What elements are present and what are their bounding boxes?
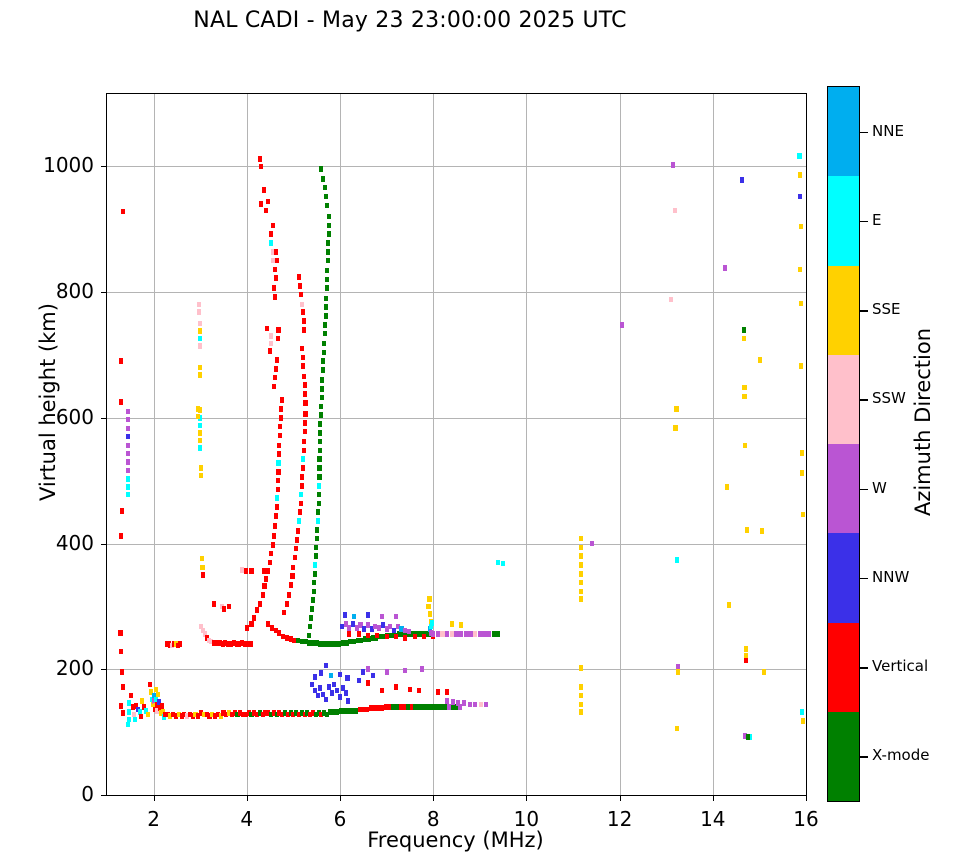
echo-point bbox=[408, 687, 412, 693]
colorbar-tick bbox=[859, 399, 868, 401]
echo-point bbox=[249, 621, 253, 627]
echo-point bbox=[317, 474, 321, 480]
echo-point bbox=[197, 302, 201, 308]
y-tick-label: 200 bbox=[14, 656, 94, 680]
gridline-horizontal bbox=[107, 166, 806, 167]
colorbar-tick bbox=[859, 132, 868, 134]
echo-point bbox=[245, 625, 249, 631]
echo-point bbox=[673, 425, 677, 431]
echo-point bbox=[277, 443, 281, 449]
echo-point bbox=[269, 551, 273, 557]
echo-point bbox=[440, 631, 444, 637]
echo-point bbox=[301, 355, 305, 361]
gridline-vertical bbox=[526, 94, 527, 795]
echo-point bbox=[258, 156, 262, 162]
echo-point bbox=[302, 448, 306, 454]
echo-point bbox=[262, 568, 266, 574]
echo-point bbox=[745, 527, 749, 533]
colorbar-tick bbox=[859, 310, 868, 312]
echo-point bbox=[318, 685, 322, 691]
echo-point bbox=[301, 363, 305, 369]
echo-point bbox=[126, 451, 130, 457]
echo-point bbox=[264, 208, 268, 214]
echo-point bbox=[126, 492, 130, 498]
echo-point bbox=[800, 709, 804, 715]
y-tick bbox=[101, 292, 107, 293]
echo-point bbox=[295, 537, 299, 543]
echo-point bbox=[199, 465, 203, 471]
echo-point bbox=[300, 302, 304, 308]
echo-point bbox=[282, 610, 286, 616]
echo-point bbox=[160, 703, 164, 709]
echo-point bbox=[317, 465, 321, 471]
echo-point bbox=[723, 265, 727, 271]
echo-point bbox=[579, 702, 583, 708]
echo-point bbox=[743, 443, 747, 449]
echo-point bbox=[268, 560, 272, 566]
echo-point bbox=[310, 682, 314, 688]
echo-point bbox=[311, 597, 315, 603]
echo-point bbox=[496, 631, 500, 637]
echo-point bbox=[222, 606, 226, 612]
echo-point bbox=[196, 414, 200, 420]
echo-point bbox=[413, 634, 417, 640]
echo-point bbox=[273, 294, 277, 300]
echo-point bbox=[302, 439, 306, 445]
echo-point bbox=[299, 501, 303, 507]
echo-point bbox=[338, 672, 342, 678]
echo-point bbox=[319, 670, 323, 676]
echo-point bbox=[324, 304, 328, 310]
echo-point bbox=[146, 712, 150, 718]
echo-point bbox=[357, 678, 361, 684]
echo-point bbox=[338, 694, 342, 700]
echo-point bbox=[436, 631, 440, 637]
echo-point bbox=[291, 565, 295, 571]
echo-point bbox=[744, 646, 748, 652]
echo-point bbox=[579, 571, 583, 577]
echo-point bbox=[178, 641, 182, 647]
echo-point bbox=[579, 684, 583, 690]
echo-point bbox=[126, 484, 130, 490]
x-tick bbox=[247, 795, 248, 801]
echo-point bbox=[119, 533, 123, 539]
echo-point bbox=[335, 688, 339, 694]
echo-point bbox=[319, 412, 323, 418]
x-tick bbox=[806, 795, 807, 801]
echo-point bbox=[297, 274, 301, 280]
echo-point bbox=[285, 601, 289, 607]
echo-point bbox=[436, 689, 440, 695]
echo-point bbox=[327, 231, 331, 237]
echo-point bbox=[319, 166, 323, 172]
echo-point bbox=[323, 331, 327, 337]
echo-point bbox=[261, 592, 265, 598]
echo-point bbox=[473, 702, 477, 708]
echo-point bbox=[366, 666, 370, 672]
echo-point bbox=[312, 589, 316, 595]
echo-point bbox=[579, 536, 583, 542]
echo-point bbox=[479, 702, 483, 708]
echo-point bbox=[300, 474, 304, 480]
echo-point bbox=[198, 430, 202, 436]
x-tick bbox=[713, 795, 714, 801]
echo-point bbox=[126, 409, 130, 415]
echo-point bbox=[198, 343, 202, 349]
colorbar-label-e: E bbox=[872, 211, 881, 229]
colorbar-segment-x-mode bbox=[828, 712, 859, 801]
echo-point bbox=[227, 604, 231, 610]
x-tick bbox=[154, 795, 155, 801]
echo-point bbox=[579, 709, 583, 715]
colorbar-segment-sse bbox=[828, 266, 859, 355]
echo-point bbox=[316, 693, 320, 699]
x-tick bbox=[340, 795, 341, 801]
y-tick bbox=[101, 544, 107, 545]
echo-point bbox=[380, 614, 384, 620]
echo-point bbox=[459, 622, 463, 628]
echo-point bbox=[298, 509, 302, 515]
echo-point bbox=[303, 382, 307, 388]
echo-point bbox=[274, 275, 278, 281]
echo-point bbox=[271, 223, 275, 229]
echo-point bbox=[427, 596, 431, 602]
echo-point bbox=[289, 582, 293, 588]
echo-point bbox=[798, 267, 802, 273]
echo-point bbox=[317, 456, 321, 462]
echo-point bbox=[129, 693, 133, 699]
echo-point bbox=[313, 571, 317, 577]
echo-point bbox=[742, 327, 746, 333]
echo-point bbox=[198, 438, 202, 444]
echo-point bbox=[278, 424, 282, 430]
echo-point bbox=[266, 568, 270, 574]
echo-point bbox=[297, 518, 301, 524]
echo-point bbox=[380, 688, 384, 694]
echo-point bbox=[275, 504, 279, 510]
echo-point bbox=[451, 699, 455, 705]
echo-point bbox=[317, 483, 321, 489]
echo-point bbox=[303, 420, 307, 426]
echo-point bbox=[294, 546, 298, 552]
echo-point bbox=[371, 673, 375, 679]
echo-point bbox=[798, 172, 802, 178]
echo-point bbox=[800, 450, 804, 456]
echo-point bbox=[473, 631, 477, 637]
echo-point bbox=[482, 631, 486, 637]
echo-point bbox=[676, 669, 680, 675]
echo-point bbox=[322, 341, 326, 347]
echo-point bbox=[276, 327, 280, 333]
echo-point bbox=[346, 698, 350, 704]
echo-point bbox=[303, 429, 307, 435]
echo-point bbox=[669, 297, 673, 303]
echo-point bbox=[675, 557, 679, 563]
y-axis-label: Virtual height (km) bbox=[36, 262, 60, 542]
echo-point bbox=[361, 669, 365, 675]
y-tick bbox=[101, 418, 107, 419]
echo-point bbox=[343, 612, 347, 618]
echo-point bbox=[273, 267, 277, 273]
echo-point bbox=[430, 620, 434, 626]
echo-point bbox=[742, 336, 746, 342]
echo-point bbox=[675, 726, 679, 732]
scatter-canvas bbox=[107, 94, 806, 795]
echo-point bbox=[300, 483, 304, 489]
echo-point bbox=[484, 702, 488, 708]
echo-point bbox=[324, 663, 328, 669]
echo-point bbox=[279, 415, 283, 421]
echo-point bbox=[318, 448, 322, 454]
colorbar-label-ssw: SSW bbox=[872, 389, 906, 407]
echo-point bbox=[248, 641, 252, 647]
x-tick bbox=[620, 795, 621, 801]
echo-point bbox=[303, 391, 307, 397]
echo-point bbox=[313, 562, 317, 568]
echo-point bbox=[324, 194, 328, 200]
echo-point bbox=[801, 512, 805, 518]
echo-point bbox=[762, 669, 766, 675]
echo-point bbox=[742, 394, 746, 400]
echo-point bbox=[366, 633, 370, 639]
echo-point bbox=[308, 624, 312, 630]
echo-point bbox=[312, 580, 316, 586]
x-tick bbox=[433, 795, 434, 801]
echo-point bbox=[671, 162, 675, 168]
echo-point bbox=[320, 395, 324, 401]
echo-point bbox=[326, 258, 330, 264]
echo-point bbox=[277, 451, 281, 457]
echo-point bbox=[252, 615, 256, 621]
echo-point bbox=[299, 292, 303, 298]
echo-point bbox=[276, 487, 280, 493]
echo-point bbox=[431, 631, 435, 637]
echo-point bbox=[120, 669, 124, 675]
echo-point bbox=[320, 386, 324, 392]
echo-point bbox=[321, 358, 325, 364]
echo-point bbox=[274, 513, 278, 519]
echo-point bbox=[403, 668, 407, 674]
echo-point bbox=[276, 460, 280, 466]
echo-point bbox=[450, 631, 454, 637]
echo-point bbox=[417, 688, 421, 694]
echo-point bbox=[272, 285, 276, 291]
echo-point bbox=[274, 249, 278, 255]
echo-point bbox=[121, 209, 125, 215]
echo-point bbox=[496, 560, 500, 566]
echo-point bbox=[121, 710, 125, 716]
echo-point bbox=[420, 666, 424, 672]
echo-point bbox=[275, 357, 279, 363]
echo-point bbox=[366, 680, 370, 686]
colorbar-label-vertical: Vertical bbox=[872, 657, 928, 675]
echo-point bbox=[258, 601, 262, 607]
echo-point bbox=[272, 533, 276, 539]
echo-point bbox=[290, 573, 294, 579]
echo-point bbox=[303, 411, 307, 417]
echo-point bbox=[746, 734, 750, 740]
echo-point bbox=[326, 249, 330, 255]
echo-point bbox=[298, 283, 302, 289]
echo-point bbox=[126, 434, 130, 440]
echo-point bbox=[487, 631, 491, 637]
echo-point bbox=[265, 326, 269, 332]
echo-point bbox=[579, 693, 583, 699]
gridline-vertical bbox=[620, 94, 621, 795]
echo-point bbox=[314, 553, 318, 559]
gridline-vertical bbox=[433, 94, 434, 795]
echo-point bbox=[799, 363, 803, 369]
echo-point bbox=[317, 492, 321, 498]
y-tick bbox=[101, 669, 107, 670]
echo-point bbox=[201, 572, 205, 578]
echo-point bbox=[309, 615, 313, 621]
echo-point bbox=[262, 583, 266, 589]
echo-point bbox=[725, 484, 729, 490]
echo-point bbox=[120, 508, 124, 514]
echo-point bbox=[212, 601, 216, 607]
echo-point bbox=[579, 562, 583, 568]
echo-point bbox=[801, 718, 805, 724]
echo-point bbox=[273, 375, 277, 381]
echo-point bbox=[279, 406, 283, 412]
echo-point bbox=[445, 689, 449, 695]
colorbar-segment-nne bbox=[828, 87, 859, 176]
echo-point bbox=[198, 365, 202, 371]
echo-point bbox=[327, 223, 331, 229]
echo-point bbox=[325, 268, 329, 274]
echo-point bbox=[332, 682, 336, 688]
echo-point bbox=[266, 199, 270, 205]
echo-point bbox=[464, 631, 468, 637]
echo-point bbox=[445, 698, 449, 704]
echo-point bbox=[300, 346, 304, 352]
echo-point bbox=[310, 606, 314, 612]
echo-point bbox=[293, 555, 297, 561]
colorbar-tick bbox=[859, 667, 868, 669]
echo-point bbox=[322, 350, 326, 356]
colorbar-segment-vertical bbox=[828, 623, 859, 712]
echo-point bbox=[276, 336, 280, 342]
echo-point bbox=[492, 631, 496, 637]
echo-point bbox=[501, 561, 505, 567]
echo-point bbox=[403, 635, 407, 641]
echo-point bbox=[319, 404, 323, 410]
echo-point bbox=[320, 377, 324, 383]
colorbar-tick bbox=[859, 489, 868, 491]
echo-point bbox=[269, 231, 273, 237]
echo-point bbox=[126, 417, 130, 423]
echo-point bbox=[199, 473, 203, 479]
echo-point bbox=[280, 397, 284, 403]
echo-point bbox=[271, 542, 275, 548]
echo-point bbox=[269, 240, 273, 246]
echo-point bbox=[324, 697, 328, 703]
echo-point bbox=[140, 698, 144, 704]
echo-point bbox=[126, 443, 130, 449]
echo-point bbox=[799, 224, 803, 230]
echo-point bbox=[126, 476, 130, 482]
echo-point bbox=[301, 465, 305, 471]
echo-point bbox=[468, 702, 472, 708]
echo-point bbox=[264, 576, 268, 582]
echo-point bbox=[673, 208, 677, 214]
echo-point bbox=[620, 322, 624, 328]
echo-point bbox=[744, 658, 748, 664]
echo-point bbox=[126, 426, 130, 432]
echo-point bbox=[287, 592, 291, 598]
echo-point bbox=[318, 430, 322, 436]
echo-point bbox=[456, 700, 460, 706]
colorbar-segment-w bbox=[828, 444, 859, 533]
echo-point bbox=[450, 621, 454, 627]
echo-point bbox=[798, 194, 802, 200]
echo-point bbox=[329, 673, 333, 679]
echo-point bbox=[579, 665, 583, 671]
echo-point bbox=[579, 553, 583, 559]
echo-point bbox=[428, 611, 432, 617]
x-axis-label: Frequency (MHz) bbox=[106, 828, 805, 852]
echo-point bbox=[196, 406, 200, 412]
colorbar-label-nnw: NNW bbox=[872, 568, 909, 586]
echo-point bbox=[273, 523, 277, 529]
echo-point bbox=[579, 580, 583, 586]
echo-point bbox=[268, 348, 272, 354]
echo-point bbox=[126, 722, 130, 728]
colorbar-label-sse: SSE bbox=[872, 300, 901, 318]
echo-point bbox=[394, 634, 398, 640]
echo-point bbox=[315, 536, 319, 542]
echo-point bbox=[119, 358, 123, 364]
echo-point bbox=[321, 367, 325, 373]
echo-point bbox=[272, 384, 276, 390]
echo-point bbox=[313, 674, 317, 680]
echo-point bbox=[269, 333, 273, 339]
echo-point bbox=[200, 556, 204, 562]
y-tick bbox=[101, 795, 107, 796]
echo-point bbox=[126, 459, 130, 465]
echo-point bbox=[740, 177, 744, 183]
echo-point bbox=[325, 203, 329, 209]
echo-point bbox=[459, 631, 463, 637]
echo-point bbox=[366, 612, 370, 618]
echo-point bbox=[318, 421, 322, 427]
echo-point bbox=[357, 631, 361, 637]
colorbar-tick bbox=[859, 221, 868, 223]
echo-point bbox=[301, 456, 305, 462]
gridline-horizontal bbox=[107, 292, 806, 293]
colorbar-label-nne: NNE bbox=[872, 122, 904, 140]
echo-point bbox=[127, 709, 131, 715]
echo-point bbox=[742, 385, 746, 391]
y-tick-label: 1000 bbox=[14, 153, 94, 177]
echo-point bbox=[426, 604, 430, 610]
echo-point bbox=[316, 509, 320, 515]
gridline-horizontal bbox=[107, 544, 806, 545]
echo-point bbox=[121, 684, 125, 690]
echo-point bbox=[325, 285, 329, 291]
echo-point bbox=[422, 634, 426, 640]
echo-point bbox=[296, 528, 300, 534]
echo-point bbox=[330, 690, 334, 696]
plot-area: 24681012141602004006008001000 bbox=[106, 93, 807, 796]
echo-point bbox=[119, 649, 123, 655]
colorbar: NNEESSESSWWNNWVerticalX-mode bbox=[827, 86, 860, 802]
echo-point bbox=[198, 423, 202, 429]
echo-point bbox=[198, 372, 202, 378]
echo-point bbox=[345, 675, 349, 681]
gridline-vertical bbox=[713, 94, 714, 795]
